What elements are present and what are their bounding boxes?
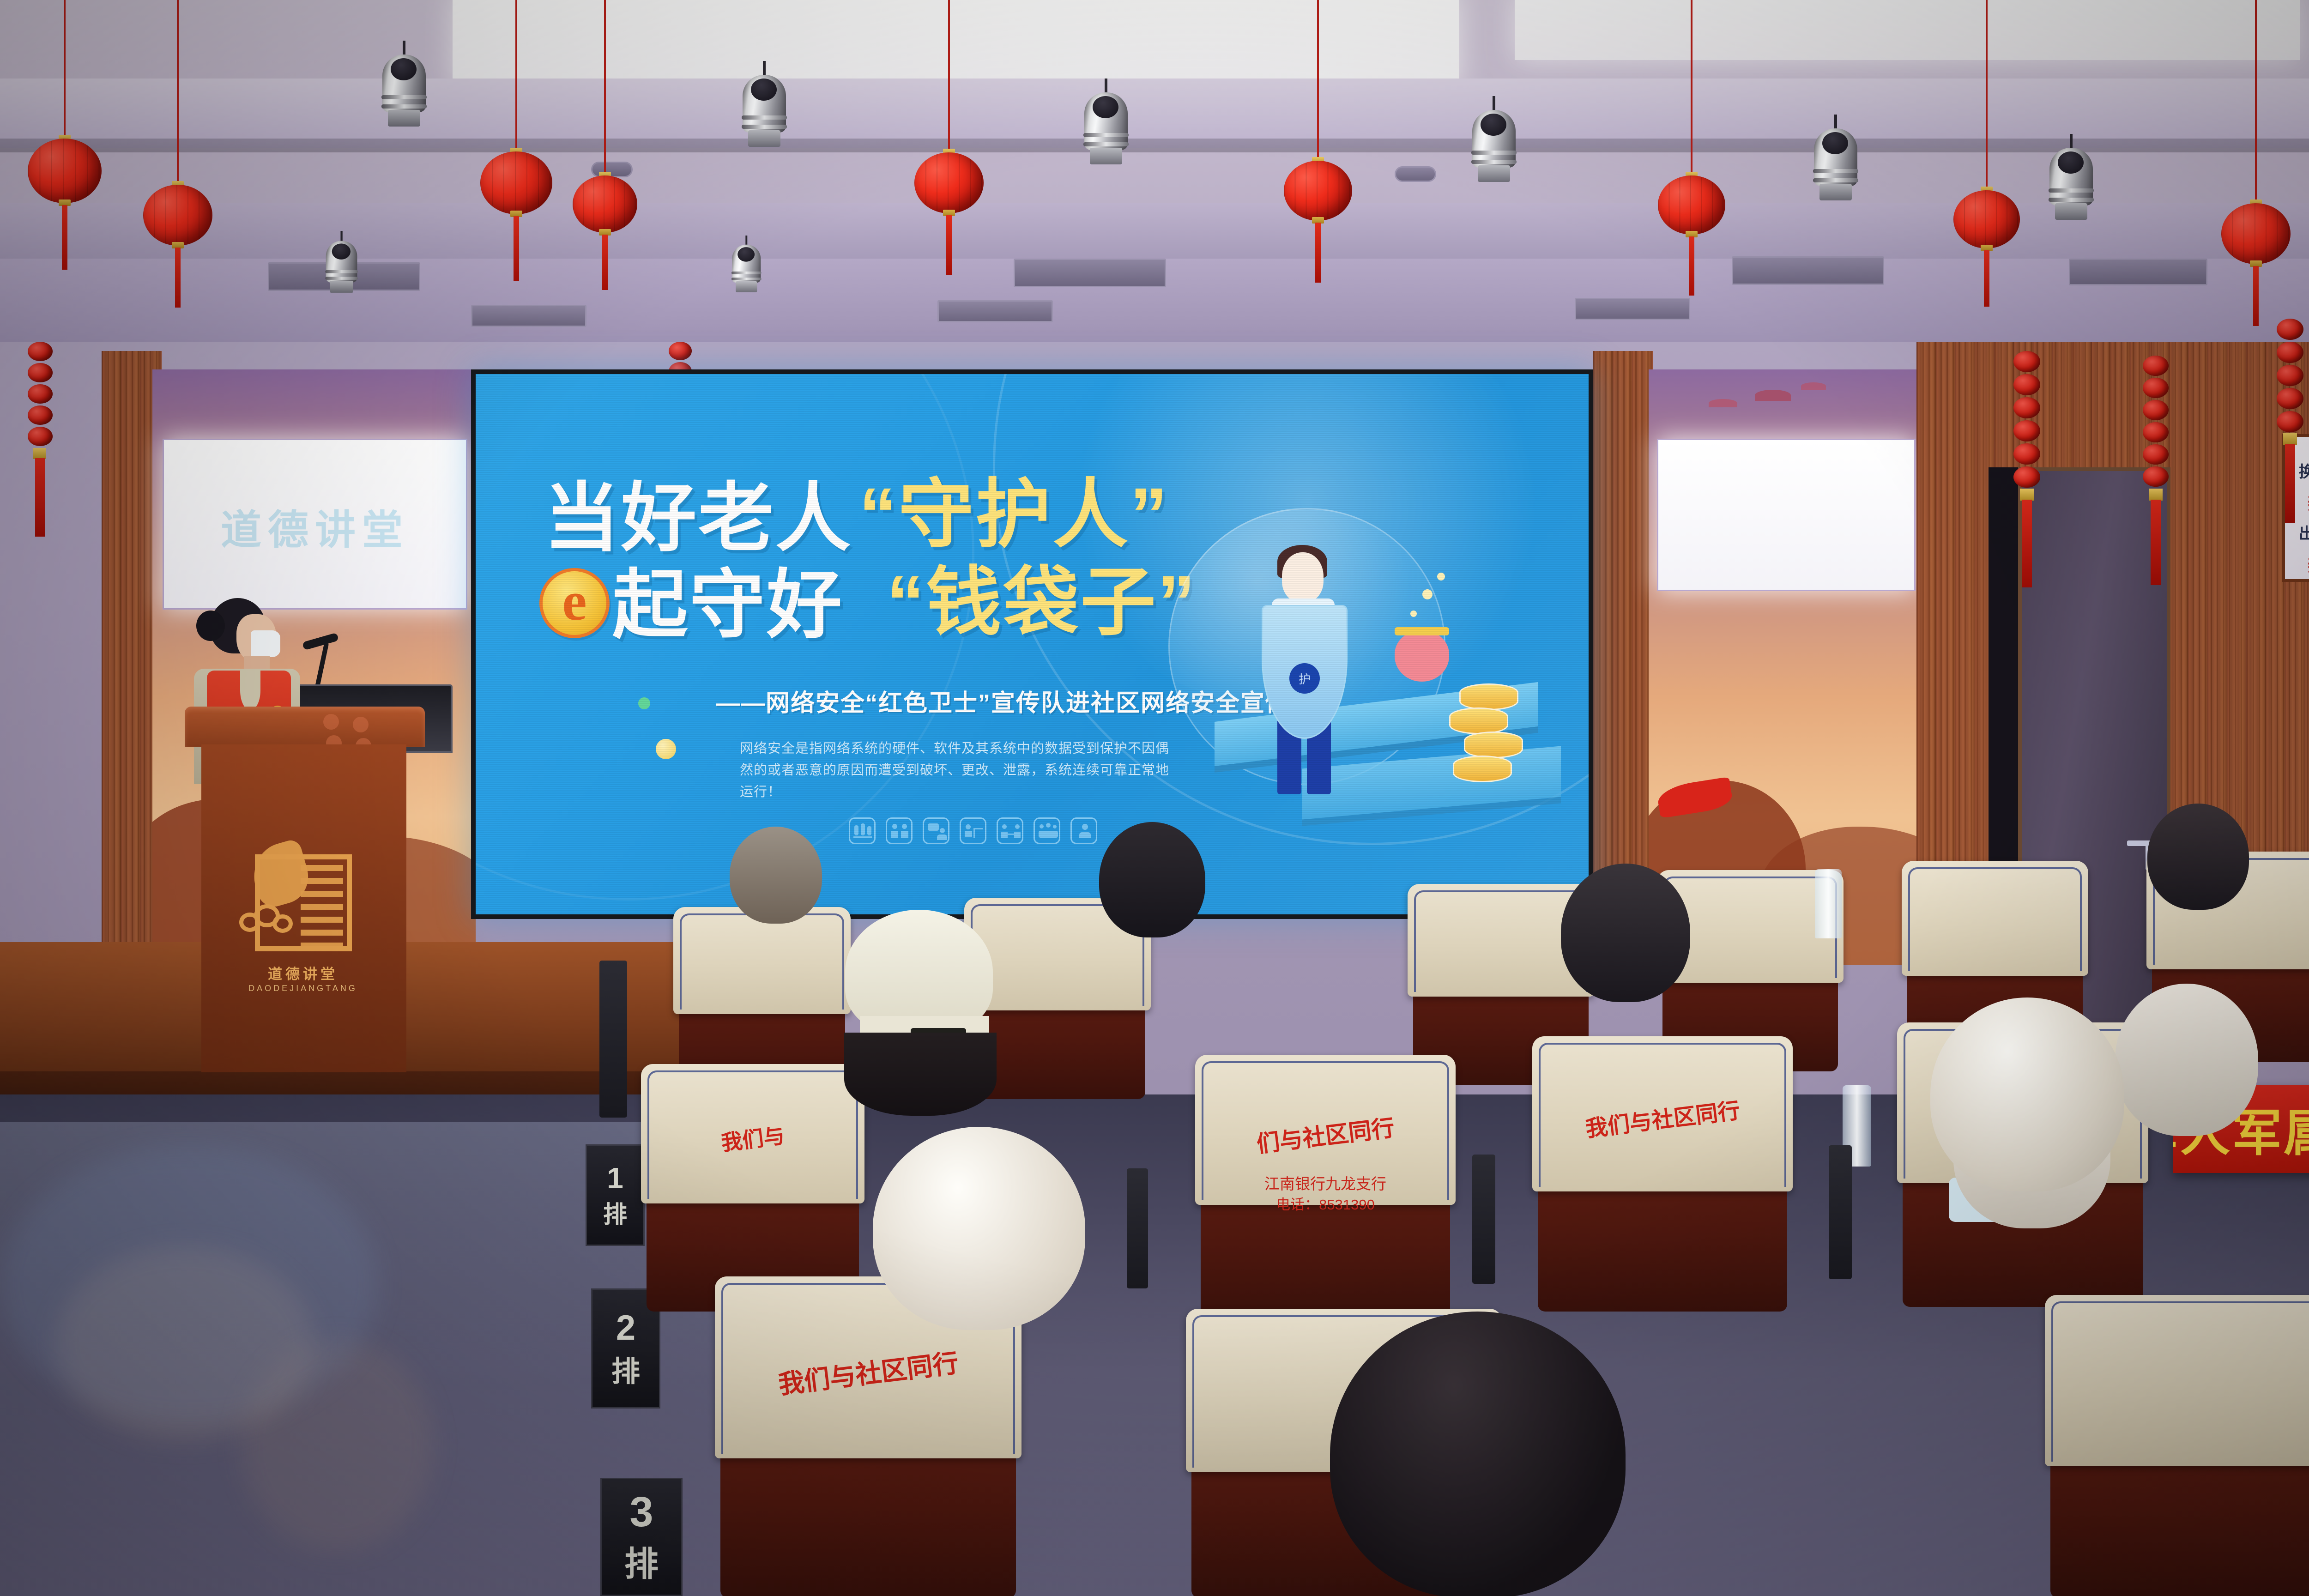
info-lightbox-left: 道德讲堂 [163,439,467,610]
screen-glow [1053,374,1561,711]
audience-head [730,827,822,924]
single-person-icon [1070,817,1097,844]
screen-arc [993,374,1589,845]
row-marker-3-number: 3 [629,1488,653,1536]
info-lightbox-right [1657,439,1916,591]
row-marker-3: 3 排 [600,1478,683,1596]
screen-icon-row [849,817,1097,844]
e-logo-letter: e [562,579,586,623]
person-at-desk-icon [960,817,986,844]
gold-coin [1459,683,1518,710]
ceiling-speaker-grille [1395,166,1436,182]
ceiling-vent [1732,256,1884,285]
coin-sparkle [1410,611,1417,617]
screen-arc [476,374,974,901]
illustration-platform-lower [1302,746,1561,820]
speaker-podium: 道德讲堂 DAODEJIANGTANG [185,707,425,1071]
audience-head [2115,984,2258,1136]
gold-coin [1453,756,1512,782]
money-bag [1395,631,1449,682]
seat-armrest [1829,1145,1852,1279]
water-bottle [1815,869,1842,938]
consultation-icon [997,817,1023,844]
guardian-hair [1277,545,1327,578]
chair-cover-slogan: 们与社区同行 [1194,1102,1457,1167]
chair-cover-slogan: 我们与社区同行 [1531,1086,1794,1149]
guardian-legs [1277,679,1301,794]
screen-green-dot [638,697,650,709]
ceiling-vent [471,305,586,327]
speech-bubble-person-icon [923,817,949,844]
chair-cover-sponsor: 江南银行九龙支行 [1195,1172,1456,1194]
ceiling-beam-upper [0,79,2309,148]
ceiling-vent [2069,259,2207,285]
illustration-platform [1215,682,1538,766]
podium-dot-decor [323,714,402,740]
auditorium-seat[interactable]: 我们与社区同行 [720,1284,1016,1596]
audience-head [2147,804,2249,910]
row-marker-2-number: 2 [616,1308,635,1348]
ceiling-vent [1575,298,1690,320]
ceiling-skylight-right [1515,0,2300,60]
row-marker-1-number: 1 [607,1161,623,1195]
seat-armrest [1127,1168,1148,1288]
coin-sparkle [1437,573,1445,580]
money-bag-tie [1395,627,1449,635]
chair-cover-phone: 电话：8531390 [1195,1193,1456,1214]
speaker-vest-collar [240,671,260,710]
podium-emblem-plate: 道德讲堂 DAODEJIANGTANG [234,846,372,1012]
auditorium-seat[interactable]: 我们与 [647,1071,859,1312]
audience-head-white-hair [873,1127,1085,1330]
audience-head-white-hair [1930,997,2124,1191]
face-mask-icon [251,630,280,657]
led-presentation-screen[interactable]: 当好老人 “守护人” e 起守好 “钱袋子” ——网络安全“红色卫士”宣传队进社… [471,369,1593,919]
guardian-legs [1307,679,1331,794]
podium-logo-cn: 道德讲堂 [234,962,372,983]
ceiling-vent [937,300,1053,322]
auditorium-seat[interactable]: 们与社区同行 江南银行九龙支行 电话：8531390 [1201,1062,1450,1321]
e-logo-icon: e [539,568,610,638]
screen-body-text: 网络安全是指网络系统的硬件、软件及其系统中的数据受到保护不因偶然的或者恶意的原因… [740,738,1169,803]
ceiling [0,0,2309,351]
row-marker-2-label: 排 [611,1348,640,1390]
chair-cover-slogan: 我们与社区同行 [714,1334,1023,1409]
auditorium-seat[interactable] [2050,1302,2309,1596]
speaker-hair-bun [196,611,225,641]
auditorium-seat[interactable]: 我们与社区同行 [1538,1044,1787,1312]
guardian-shield [1262,605,1348,739]
row-marker-1: 1 排 [586,1144,645,1246]
cloud-motif-icon [239,901,299,938]
ceiling-vent [1014,259,1166,287]
mural-bird [1755,390,1791,401]
mural-bird [1801,382,1826,390]
screen-yellow-dot [656,739,676,759]
seat-armrest [1472,1155,1495,1284]
floor-reflection-screen [0,1145,379,1422]
gold-coin [1464,731,1523,758]
guardian-torso [1272,598,1335,686]
screen-title-line2-yellow: “钱袋子” [887,564,1197,640]
screen-content: 当好老人 “守护人” e 起守好 “钱袋子” ——网络安全“红色卫士”宣传队进社… [476,374,1589,914]
shield-emblem: 护 [1289,663,1320,694]
podium-top-surface [185,707,425,747]
chair-cover-slogan: 我们与 [640,1109,865,1166]
community-group-icon [849,817,876,844]
screen-title-line1-white: 当好老人 [544,480,852,556]
screen-title-line1-yellow: “守护人” [859,477,1169,552]
protection-bubble [1168,508,1445,785]
podium-body: 道德讲堂 DAODEJIANGTANG [201,744,406,1072]
family-group-icon [1034,817,1060,844]
ceiling-dark-strip [0,139,2309,152]
audience-head [844,1033,997,1116]
audience-head [1561,864,1690,1002]
screen-subtitle: ——网络安全“红色卫士”宣传队进社区网络安全宣传活动 [716,683,1340,718]
lecture-hall-photo: 道德讲堂 换出“两委” 新面貌 出基层治理 新格局 [0,0,2309,1596]
guardian-illustration: 护 [1164,480,1570,914]
ceiling-speaker-grille [591,162,633,177]
gold-coin [1449,707,1508,734]
audience-head [1099,822,1205,937]
ceiling-skylight-main [453,0,1459,88]
two-people-desk-icon [886,817,913,844]
poster-line-4: 新格局 [2285,550,2309,579]
mural-bird [1709,399,1737,407]
screen-title-line2-white: 起守好 [612,567,844,642]
lightbox-left-text: 道德讲堂 [164,497,466,556]
seat-armrest [599,961,627,1118]
coin-sparkle [1422,589,1433,599]
audience-head [1330,1312,1626,1596]
podium-logo-en: DAODEJIANGTANG [234,984,372,993]
guardian-head [1282,552,1324,602]
row-marker-3-label: 排 [624,1536,659,1586]
row-marker-1-label: 排 [603,1195,627,1230]
poster-line-3: 出基层治理 [2285,521,2309,544]
